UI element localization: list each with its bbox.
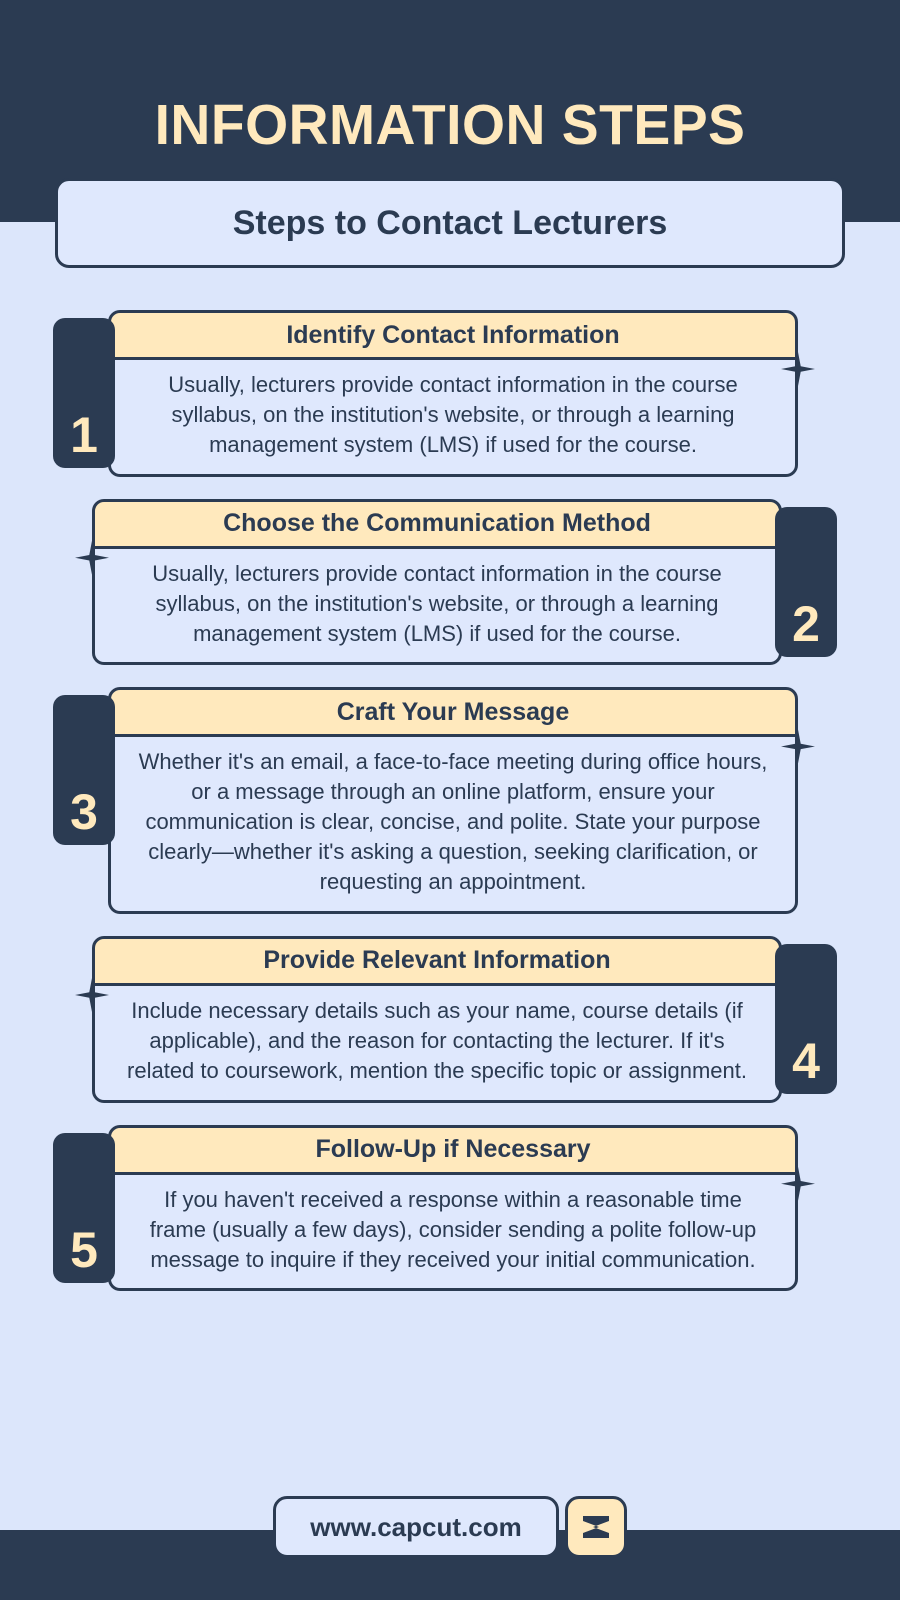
capcut-logo-box[interactable]	[565, 1496, 627, 1558]
step-body: Usually, lecturers provide contact infor…	[108, 360, 798, 477]
step-inner: 5Follow-Up if NecessaryIf you haven't re…	[108, 1125, 798, 1292]
subtitle-text: Steps to Contact Lecturers	[233, 204, 668, 243]
step-body: Include necessary details such as your n…	[92, 986, 782, 1103]
website-url-text: www.capcut.com	[310, 1512, 521, 1543]
step-number: 2	[792, 599, 820, 657]
step-inner: 4Provide Relevant InformationInclude nec…	[92, 936, 782, 1103]
step-card: 1Identify Contact InformationUsually, le…	[50, 310, 850, 477]
step-title: Follow-Up if Necessary	[301, 1135, 604, 1164]
step-header-bar: Choose the Communication Method	[92, 499, 782, 549]
step-card: 2Choose the Communication MethodUsually,…	[50, 499, 850, 666]
step-card: 5Follow-Up if NecessaryIf you haven't re…	[50, 1125, 850, 1292]
step-body: Whether it's an email, a face-to-face me…	[108, 737, 798, 914]
website-url-box[interactable]: www.capcut.com	[273, 1496, 558, 1558]
step-body: If you haven't received a response withi…	[108, 1175, 798, 1292]
step-header-bar: Craft Your Message	[108, 687, 798, 737]
step-header-bar: Follow-Up if Necessary	[108, 1125, 798, 1175]
page-title: INFORMATION STEPS	[14, 92, 887, 158]
step-card: 3Craft Your MessageWhether it's an email…	[50, 687, 850, 914]
step-title: Choose the Communication Method	[209, 509, 665, 538]
step-title: Craft Your Message	[323, 698, 583, 727]
step-inner: 2Choose the Communication MethodUsually,…	[92, 499, 782, 666]
step-header-bar: Provide Relevant Information	[92, 936, 782, 986]
step-number-badge: 5	[53, 1133, 115, 1283]
step-title: Identify Contact Information	[272, 321, 633, 350]
step-body-text: Usually, lecturers provide contact infor…	[133, 370, 773, 460]
step-number-badge: 2	[775, 507, 837, 657]
capcut-logo-icon	[579, 1512, 613, 1542]
step-number: 3	[70, 787, 98, 845]
step-number: 5	[70, 1225, 98, 1283]
footer: www.capcut.com	[0, 1496, 900, 1558]
subtitle-box: Steps to Contact Lecturers	[55, 178, 845, 268]
step-title: Provide Relevant Information	[249, 946, 624, 975]
step-number: 1	[70, 410, 98, 468]
step-number: 4	[792, 1036, 820, 1094]
step-card: 4Provide Relevant InformationInclude nec…	[50, 936, 850, 1103]
step-body-text: If you haven't received a response withi…	[133, 1185, 773, 1275]
step-number-badge: 4	[775, 944, 837, 1094]
step-number-badge: 3	[53, 695, 115, 845]
step-body: Usually, lecturers provide contact infor…	[92, 549, 782, 666]
step-body-text: Usually, lecturers provide contact infor…	[117, 559, 757, 649]
steps-list: 1Identify Contact InformationUsually, le…	[0, 310, 900, 1313]
step-body-text: Whether it's an email, a face-to-face me…	[133, 747, 773, 897]
step-header-bar: Identify Contact Information	[108, 310, 798, 360]
step-inner: 1Identify Contact InformationUsually, le…	[108, 310, 798, 477]
step-body-text: Include necessary details such as your n…	[117, 996, 757, 1086]
step-number-badge: 1	[53, 318, 115, 468]
step-inner: 3Craft Your MessageWhether it's an email…	[108, 687, 798, 914]
